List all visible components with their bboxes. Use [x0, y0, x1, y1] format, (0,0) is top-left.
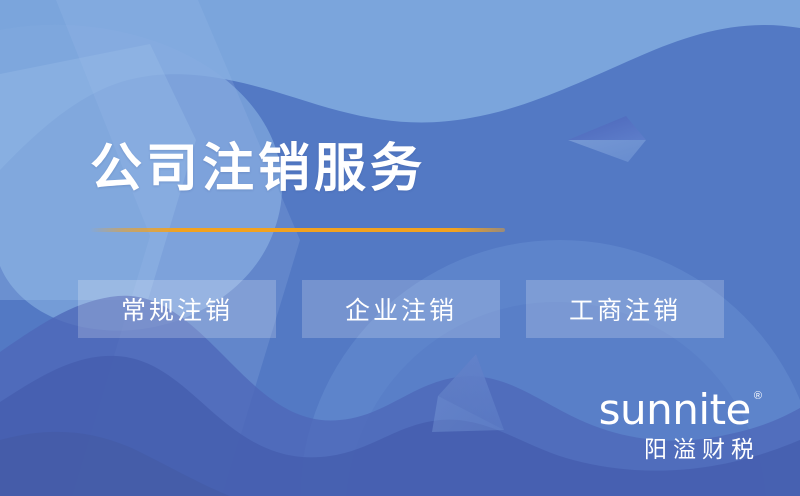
tag-label: 企业注销 — [345, 291, 457, 327]
logo-wordmark-row: sunnite ® — [599, 389, 762, 431]
title-divider — [90, 228, 505, 232]
title-block: 公司注销服务 — [90, 140, 710, 198]
service-tag-row: 常规注销 企业注销 工商注销 — [78, 280, 724, 338]
tag-regular-deregistration[interactable]: 常规注销 — [78, 280, 276, 338]
page-title: 公司注销服务 — [90, 140, 710, 198]
tag-label: 常规注销 — [121, 291, 233, 327]
tag-label: 工商注销 — [569, 291, 681, 327]
registered-trademark-icon: ® — [754, 391, 762, 402]
logo-wordmark: sunnite — [599, 389, 751, 431]
tag-enterprise-deregistration[interactable]: 企业注销 — [302, 280, 500, 338]
brand-logo: sunnite ® 阳溢财税 — [599, 389, 762, 461]
tag-business-deregistration[interactable]: 工商注销 — [526, 280, 724, 338]
logo-chinese-name: 阳溢财税 — [599, 438, 762, 461]
promo-banner: 公司注销服务 常规注销 企业注销 工商注销 sunnite ® 阳溢财税 — [0, 0, 800, 496]
